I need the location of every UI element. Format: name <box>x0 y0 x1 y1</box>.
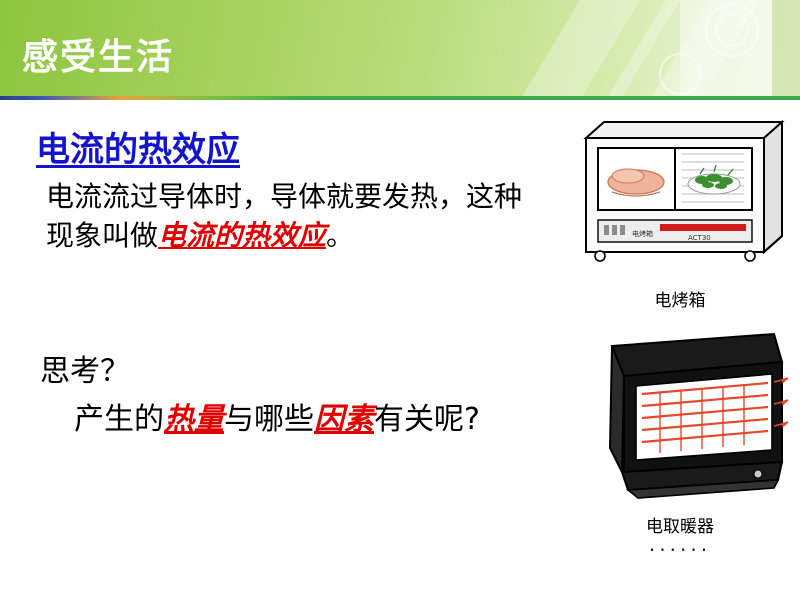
electric-heater-icon <box>568 322 792 512</box>
illustration-column: 电烤箱 ACT30 电烤箱 <box>560 100 800 600</box>
question-part1: 产生的 <box>74 402 164 437</box>
definition-highlight: 电流的热效应 <box>158 219 326 252</box>
banner-decoration <box>380 0 800 100</box>
banner-title: 感受生活 <box>22 28 174 80</box>
question-part2: 与哪些 <box>224 402 314 437</box>
slide: 感受生活 电流的热效应 电流流过导体时，导体就要发热，这种现象叫做电流的热效应。… <box>0 0 800 600</box>
electric-oven-figure: 电烤箱 ACT30 电烤箱 <box>568 104 792 284</box>
question-part3: 有关呢? <box>374 402 480 437</box>
ellipsis-text: ······ <box>560 538 800 562</box>
content-column: 电流的热效应 电流流过导体时，导体就要发热，这种现象叫做电流的热效应。 思考？ … <box>0 100 560 600</box>
question-text: 产生的热量与哪些因素有关呢? <box>74 400 544 441</box>
definition-paragraph: 电流流过导体时，导体就要发热，这种现象叫做电流的热效应。 <box>46 178 546 255</box>
electric-heater-figure: 电取暖器 <box>568 322 792 512</box>
question-highlight-heat: 热量 <box>164 402 224 437</box>
electric-heater-caption: 电取暖器 <box>568 512 792 537</box>
question-highlight-factors: 因素 <box>314 402 374 437</box>
electric-oven-caption: 电烤箱 <box>568 286 792 311</box>
electric-oven-icon: 电烤箱 ACT30 <box>568 104 792 284</box>
svg-text:ACT30: ACT30 <box>688 234 711 242</box>
think-label: 思考？ <box>40 346 130 390</box>
definition-text-part2: 。 <box>326 219 354 252</box>
svg-text:电烤箱: 电烤箱 <box>632 229 653 238</box>
slide-header-banner: 感受生活 <box>0 0 800 100</box>
page-title: 电流的热效应 <box>36 122 240 171</box>
